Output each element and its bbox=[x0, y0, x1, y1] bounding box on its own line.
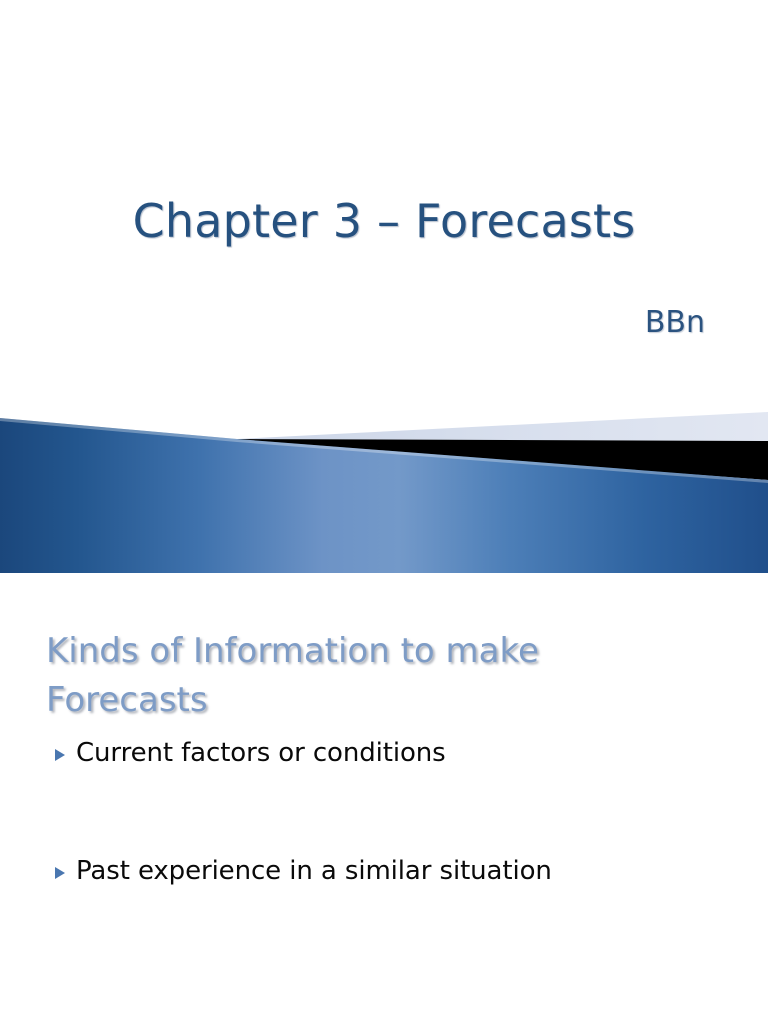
triangle-right-bullet-icon bbox=[54, 866, 66, 880]
slide-page: Chapter 3 – Forecasts BBn bbox=[0, 0, 768, 1024]
content-slide: Kinds of Information to make Forecasts C… bbox=[0, 576, 768, 1024]
banner-graphic bbox=[0, 408, 768, 576]
bullet-list: Current factors or conditions Past exper… bbox=[0, 739, 768, 975]
title-slide-subtitle: BBn bbox=[0, 305, 705, 340]
banner-shapes-svg bbox=[0, 408, 768, 576]
page-title: Chapter 3 – Forecasts bbox=[0, 196, 768, 247]
banner-light-band bbox=[237, 412, 768, 441]
list-item-label: Past experience in a similar situation bbox=[76, 857, 768, 887]
list-item-label: Current factors or conditions bbox=[76, 739, 768, 769]
list-item: Current factors or conditions bbox=[0, 739, 768, 857]
list-item: Past experience in a similar situation bbox=[0, 857, 768, 975]
title-slide: Chapter 3 – Forecasts BBn bbox=[0, 0, 768, 415]
triangle-right-bullet-icon bbox=[54, 748, 66, 762]
section-heading: Kinds of Information to make Forecasts bbox=[46, 627, 646, 725]
